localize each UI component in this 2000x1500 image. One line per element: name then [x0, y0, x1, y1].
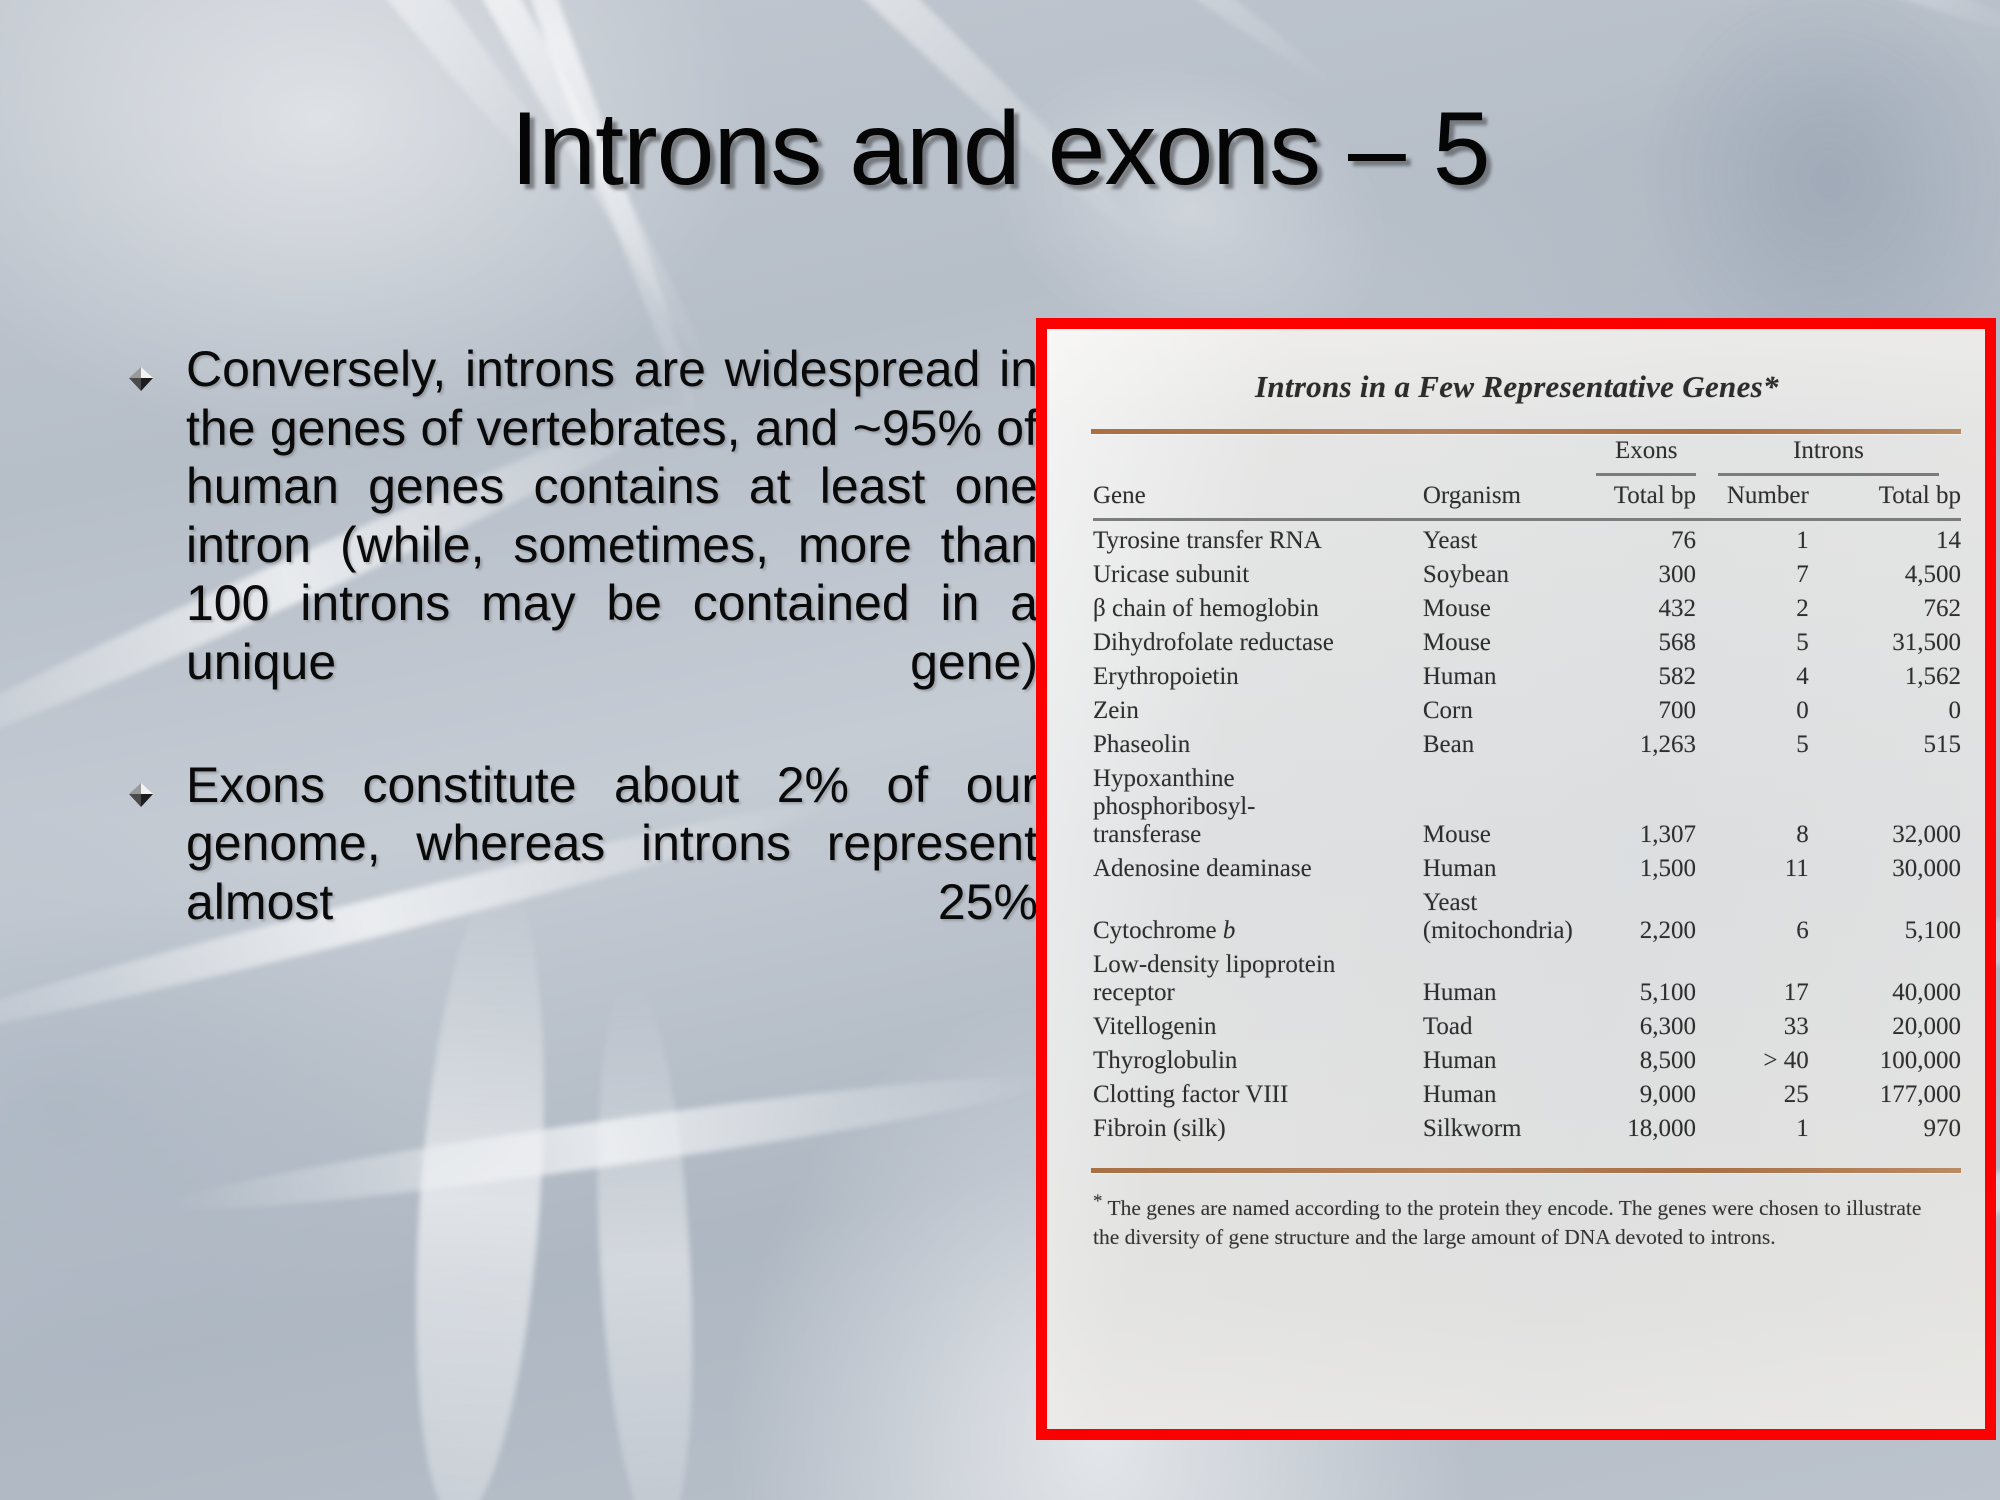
cell-intron-bp: 5,100 [1831, 886, 1961, 948]
cell-gene: Hypoxanthinephosphoribosyl-transferase [1093, 762, 1423, 852]
group-header-introns: Introns [1718, 434, 1961, 468]
cell-intron-bp: 30,000 [1831, 852, 1961, 886]
cell-intron-number: 11 [1718, 852, 1831, 886]
cell-exon-bp: 1,500 [1596, 852, 1718, 886]
list-item-label: Conversely, introns are widespread in th… [186, 340, 1038, 750]
cell-exon-bp: 568 [1596, 626, 1718, 660]
cell-organism: Toad [1423, 1010, 1597, 1044]
cell-organism: Human [1423, 1044, 1597, 1078]
table-row: Thyroglobulin Human 8,500 > 40 100,000 [1093, 1044, 1961, 1078]
cell-intron-bp: 100,000 [1831, 1044, 1961, 1078]
cell-intron-bp: 40,000 [1831, 948, 1961, 1010]
cell-organism: Mouse [1423, 592, 1597, 626]
figure-bottom-rule [1091, 1168, 1961, 1173]
cell-organism: Human [1423, 660, 1597, 694]
cell-gene: Vitellogenin [1093, 1010, 1423, 1044]
bullet-list: Conversely, introns are widespread in th… [118, 340, 1038, 996]
cell-intron-number: 5 [1718, 728, 1831, 762]
header-rule [1093, 518, 1961, 521]
cell-organism: Human [1423, 948, 1597, 1010]
cell-organism: Corn [1423, 694, 1597, 728]
cell-organism: Silkworm [1423, 1112, 1597, 1146]
cell-intron-number: > 40 [1718, 1044, 1831, 1078]
arrow-diamond-bullet-icon [126, 780, 156, 810]
cell-intron-bp: 0 [1831, 694, 1961, 728]
genes-table-body: Tyrosine transfer RNA Yeast 76 1 14 Uric… [1093, 524, 1961, 1146]
cell-exon-bp: 8,500 [1596, 1044, 1718, 1078]
group-header-exons: Exons [1596, 434, 1718, 468]
table-row: Adenosine deaminase Human 1,500 11 30,00… [1093, 852, 1961, 886]
list-item-label: Exons constitute about 2% of our genome,… [186, 756, 1038, 990]
cell-organism: Yeast(mitochondria) [1423, 886, 1597, 948]
cell-intron-number: 4 [1718, 660, 1831, 694]
cell-exon-bp: 700 [1596, 694, 1718, 728]
cell-intron-number: 17 [1718, 948, 1831, 1010]
cell-organism: Mouse [1423, 762, 1597, 852]
cell-gene: Erythropoietin [1093, 660, 1423, 694]
cell-intron-bp: 14 [1831, 524, 1961, 558]
list-item: Conversely, introns are widespread in th… [118, 340, 1038, 750]
cell-intron-bp: 4,500 [1831, 558, 1961, 592]
header-underline-row [1093, 513, 1961, 524]
cell-intron-bp: 31,500 [1831, 626, 1961, 660]
cell-gene: Thyroglobulin [1093, 1044, 1423, 1078]
cell-intron-bp: 762 [1831, 592, 1961, 626]
cell-gene: Phaseolin [1093, 728, 1423, 762]
cell-intron-number: 1 [1718, 524, 1831, 558]
footnote-text: The genes are named according to the pro… [1093, 1196, 1921, 1248]
cell-exon-bp: 6,300 [1596, 1010, 1718, 1044]
table-row: Uricase subunit Soybean 300 7 4,500 [1093, 558, 1961, 592]
cell-organism: Human [1423, 852, 1597, 886]
cell-exon-bp: 9,000 [1596, 1078, 1718, 1112]
table-row: Zein Corn 700 0 0 [1093, 694, 1961, 728]
footnote-marker: * [1093, 1191, 1103, 1212]
slide: Introns and exons – 5 Conversely, intron… [0, 0, 2000, 1500]
cell-gene: Cytochrome b [1093, 886, 1423, 948]
table-header-row: Gene Organism Total bp Number Total bp [1093, 479, 1961, 513]
genes-table: Exons Introns Gene Organism Tota [1093, 434, 1961, 1146]
cell-gene: Fibroin (silk) [1093, 1112, 1423, 1146]
arrow-diamond-bullet-icon [126, 364, 156, 394]
cell-intron-bp: 515 [1831, 728, 1961, 762]
cell-gene: Dihydrofolate reductase [1093, 626, 1423, 660]
cell-intron-bp: 20,000 [1831, 1010, 1961, 1044]
cell-exon-bp: 300 [1596, 558, 1718, 592]
table-row: Erythropoietin Human 582 4 1,562 [1093, 660, 1961, 694]
cell-gene: Uricase subunit [1093, 558, 1423, 592]
cell-organism: Human [1423, 1078, 1597, 1112]
cell-intron-number: 7 [1718, 558, 1831, 592]
cell-gene: Low-density lipoproteinreceptor [1093, 948, 1423, 1010]
column-header-exon-bp: Total bp [1596, 479, 1718, 513]
cell-exon-bp: 5,100 [1596, 948, 1718, 1010]
cell-exon-bp: 1,263 [1596, 728, 1718, 762]
cell-intron-number: 2 [1718, 592, 1831, 626]
table-row: β chain of hemoglobin Mouse 432 2 762 [1093, 592, 1961, 626]
exons-span-rule [1596, 473, 1696, 476]
table-row: Phaseolin Bean 1,263 5 515 [1093, 728, 1961, 762]
figure-table-image: Introns in a Few Representative Genes* E… [1036, 318, 1996, 1440]
cell-exon-bp: 432 [1596, 592, 1718, 626]
column-header-intron-number: Number [1718, 479, 1831, 513]
cell-gene: Clotting factor VIII [1093, 1078, 1423, 1112]
cell-gene: Adenosine deaminase [1093, 852, 1423, 886]
figure-inner-frame: Introns in a Few Representative Genes* E… [1044, 326, 1988, 1432]
group-header-underline-row [1093, 468, 1961, 479]
cell-intron-number: 1 [1718, 1112, 1831, 1146]
table-row: Clotting factor VIII Human 9,000 25 177,… [1093, 1078, 1961, 1112]
column-header-organism: Organism [1423, 479, 1597, 513]
column-header-intron-bp: Total bp [1831, 479, 1961, 513]
cell-exon-bp: 1,307 [1596, 762, 1718, 852]
table-row: Tyrosine transfer RNA Yeast 76 1 14 [1093, 524, 1961, 558]
figure-title: Introns in a Few Representative Genes* [1047, 329, 1985, 405]
introns-span-rule [1718, 473, 1939, 476]
cell-exon-bp: 76 [1596, 524, 1718, 558]
cell-organism: Soybean [1423, 558, 1597, 592]
cell-gene: Zein [1093, 694, 1423, 728]
table-row: Dihydrofolate reductase Mouse 568 5 31,5… [1093, 626, 1961, 660]
page-title: Introns and exons – 5 [0, 96, 2000, 202]
figure-footnote: * The genes are named according to the p… [1093, 1189, 1945, 1251]
cell-organism: Yeast [1423, 524, 1597, 558]
table-row: Cytochrome b Yeast(mitochondria) 2,200 6… [1093, 886, 1961, 948]
cell-organism: Mouse [1423, 626, 1597, 660]
cell-gene: Tyrosine transfer RNA [1093, 524, 1423, 558]
column-header-gene: Gene [1093, 479, 1423, 513]
cell-organism: Bean [1423, 728, 1597, 762]
strand [585, 978, 704, 1500]
table-row: Vitellogenin Toad 6,300 33 20,000 [1093, 1010, 1961, 1044]
cell-exon-bp: 18,000 [1596, 1112, 1718, 1146]
table-row: Low-density lipoproteinreceptor Human 5,… [1093, 948, 1961, 1010]
cell-intron-bp: 32,000 [1831, 762, 1961, 852]
cell-intron-number: 33 [1718, 1010, 1831, 1044]
cell-intron-number: 5 [1718, 626, 1831, 660]
cell-exon-bp: 2,200 [1596, 886, 1718, 948]
cell-intron-number: 0 [1718, 694, 1831, 728]
cell-intron-number: 6 [1718, 886, 1831, 948]
cell-intron-bp: 970 [1831, 1112, 1961, 1146]
cell-intron-bp: 1,562 [1831, 660, 1961, 694]
cell-exon-bp: 582 [1596, 660, 1718, 694]
cell-gene: β chain of hemoglobin [1093, 592, 1423, 626]
cell-intron-number: 25 [1718, 1078, 1831, 1112]
table-row: Hypoxanthinephosphoribosyl-transferase M… [1093, 762, 1961, 852]
table-group-header-row: Exons Introns [1093, 434, 1961, 468]
cell-intron-number: 8 [1718, 762, 1831, 852]
cell-intron-bp: 177,000 [1831, 1078, 1961, 1112]
strand [942, 0, 1758, 25]
list-item: Exons constitute about 2% of our genome,… [118, 756, 1038, 990]
table-row: Fibroin (silk) Silkworm 18,000 1 970 [1093, 1112, 1961, 1146]
